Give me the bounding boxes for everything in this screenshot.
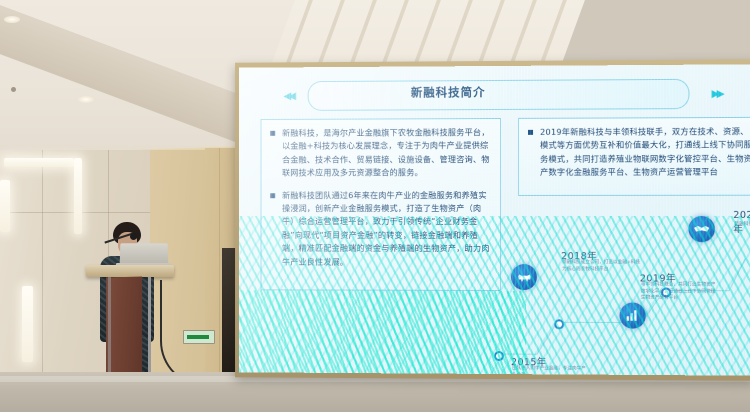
timeline-detail: 新融科技与多家合作伙伴达成战略合作 xyxy=(734,222,750,235)
bullet-text: 新融科技，是海尔产业金融旗下农牧金融科技服务平台，以金融+科技为核心发展理念，专… xyxy=(282,126,491,180)
wall-light-bar xyxy=(0,180,10,232)
bullet-item: 2019年新融科技与丰领科技联手，双方在技术、资源、模式等方面优势互补和价值最大… xyxy=(528,125,750,180)
bullet-item: 新融科技，是海尔产业金融旗下农牧金融科技服务平台，以金融+科技为核心发展理念，专… xyxy=(270,126,491,180)
downlight-icon xyxy=(78,96,94,103)
microphone-head-icon xyxy=(130,233,137,240)
bullet-text: 新融科技团队通过6年来在肉牛产业的金融服务和养殖实操浸润，创新产业金融服务模式，… xyxy=(282,189,491,269)
timeline: 2015年 团队进入肉牛产业金融，专注肉牛产业金融 2018年 新融科技成立公司… xyxy=(491,204,750,371)
presentation-slide: ◂◂ 新融科技简介 ▸▸ 新融科技，是海尔产业金融旗下农牧金融科技服务平台，以金… xyxy=(239,64,750,375)
slide-title: 新融科技简介 xyxy=(261,83,639,101)
content-card-left: 新融科技，是海尔产业金融旗下农牧金融科技服务平台，以金融+科技为核心发展理念，专… xyxy=(261,118,501,291)
timeline-dot xyxy=(554,319,564,329)
content-card-right: 2019年新融科技与丰领科技联手，双方在技术、资源、模式等方面优势互补和价值最大… xyxy=(518,117,750,196)
wall-light-bar xyxy=(22,286,33,362)
handshake-icon[interactable] xyxy=(688,216,714,242)
cow-icon[interactable] xyxy=(511,264,537,290)
led-screen: ◂◂ 新融科技简介 ▸▸ 新融科技，是海尔产业金融旗下农牧金融科技服务平台，以金… xyxy=(239,64,750,375)
downlight-icon xyxy=(4,16,20,23)
screenshot-stage: ◂◂ 新融科技简介 ▸▸ 新融科技，是海尔产业金融旗下农牧金融科技服务平台，以金… xyxy=(0,0,750,412)
next-arrow-icon[interactable]: ▸▸ xyxy=(712,85,722,102)
timeline-dot xyxy=(494,351,504,361)
timeline-detail: 新融科技成立公司，打造以金融+科技为核心的农牧科技平台 xyxy=(562,260,641,273)
timeline-detail: 与丰领科技联合，共同打造生物资产数字化平台，打通线上线下协同管理生物资产运营平台 xyxy=(641,282,720,302)
bar-chart-icon[interactable] xyxy=(620,302,646,328)
wall-light-bar xyxy=(74,158,82,234)
podium-top xyxy=(86,265,174,277)
slide-title-bar: ◂◂ 新融科技简介 ▸▸ xyxy=(261,79,735,112)
laptop-screen xyxy=(120,243,169,265)
wall-light-bar xyxy=(4,158,74,167)
bullet-item: 新融科技团队通过6年来在肉牛产业的金融服务和养殖实操浸润，创新产业金融服务模式，… xyxy=(270,189,491,269)
sprinkler-icon xyxy=(11,87,16,92)
bullet-text: 2019年新融科技与丰领科技联手，双方在技术、资源、模式等方面优势互补和价值最大… xyxy=(540,125,750,180)
